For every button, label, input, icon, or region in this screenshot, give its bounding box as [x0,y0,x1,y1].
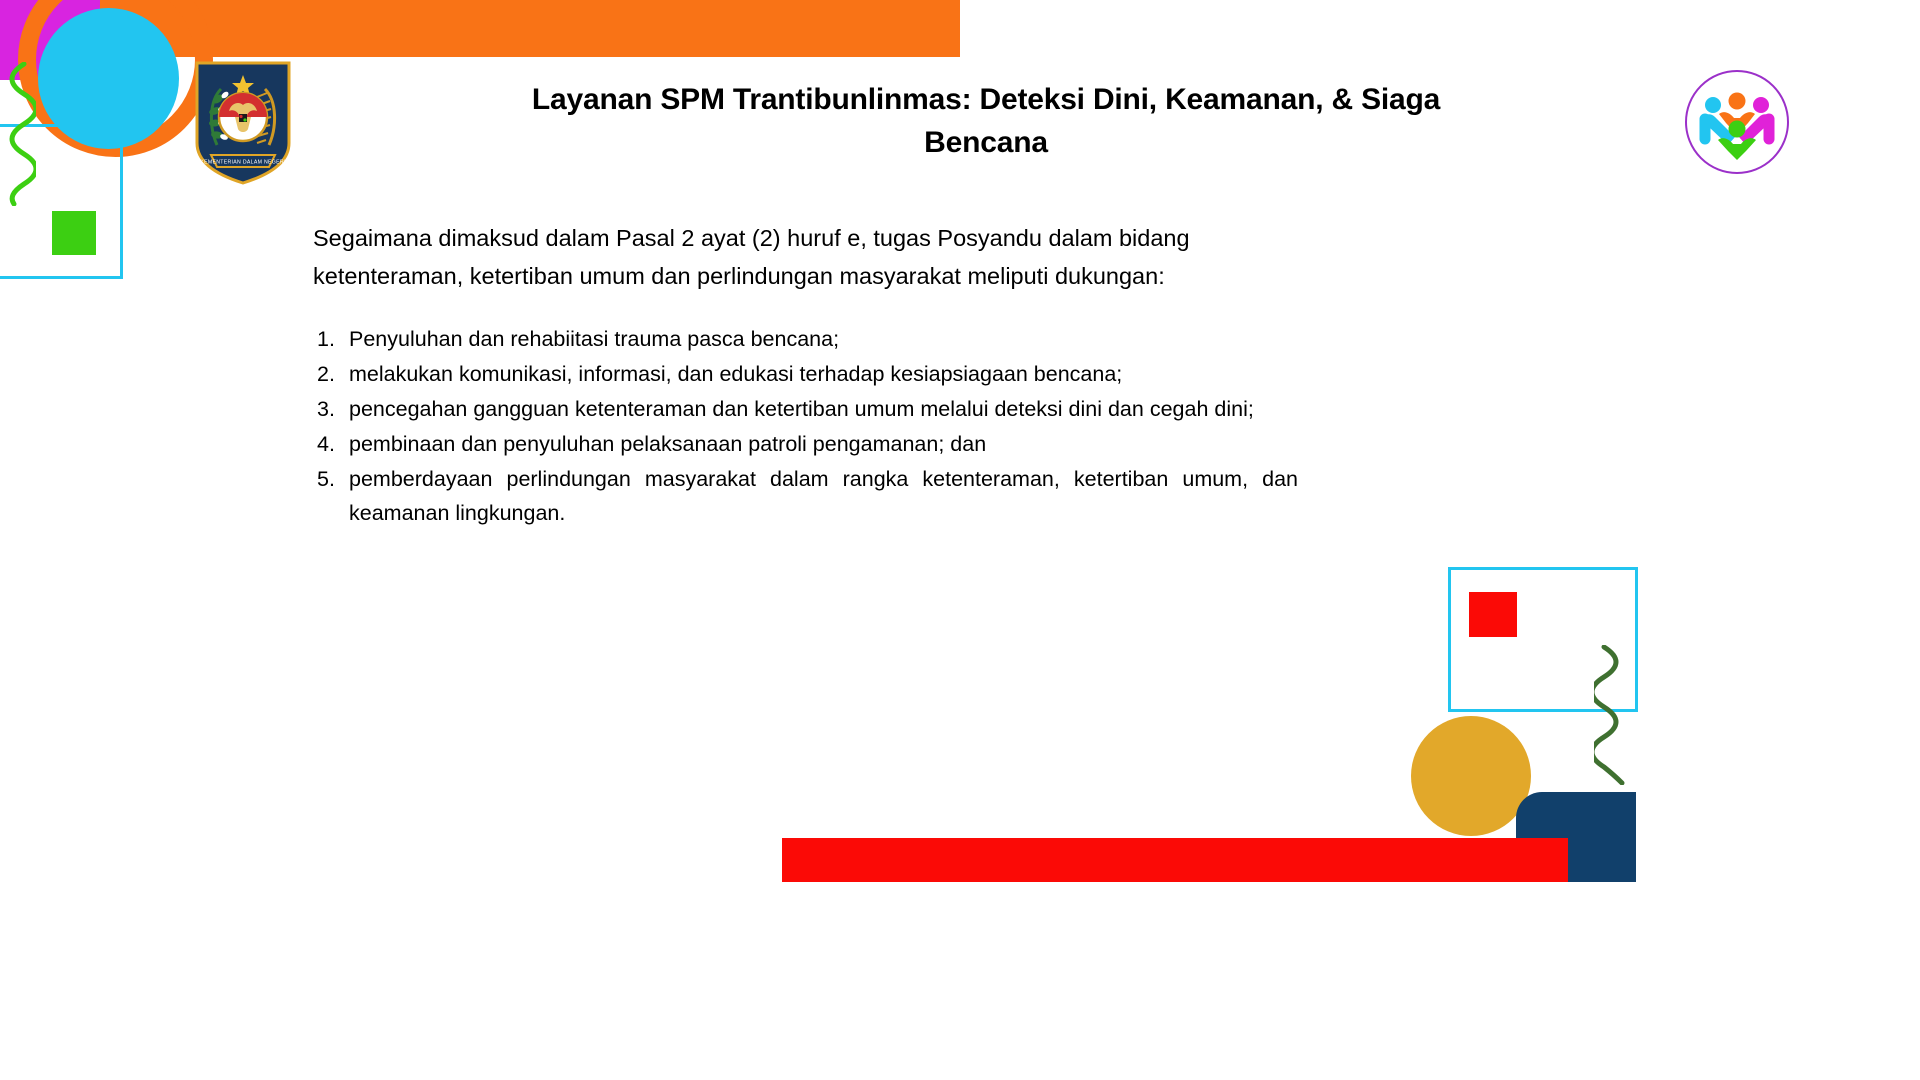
posyandu-logo-container [1672,67,1802,177]
navy-block-decoration [1516,792,1636,882]
slide-header: KEMENTERIAN DALAM NEGERI Layanan SPM Tra… [0,52,1920,192]
page-title: Layanan SPM Trantibunlinmas: Deteksi Din… [486,79,1486,164]
orange-top-bar-decoration [100,0,960,57]
posyandu-logo-icon [1682,67,1792,177]
list-item: Penyuluhan dan rehabiitasi trauma pasca … [313,323,1298,357]
green-square-decoration [52,211,96,255]
task-list: Penyuluhan dan rehabiitasi trauma pasca … [313,323,1298,531]
title-container: Layanan SPM Trantibunlinmas: Deteksi Din… [308,79,1672,164]
list-item: pencegahan gangguan ketenteraman dan ket… [313,393,1298,427]
kemendagri-emblem-icon: KEMENTERIAN DALAM NEGERI [191,59,295,185]
slide-body: Segaimana dimaksud dalam Pasal 2 ayat (2… [313,219,1298,532]
red-square-decoration [1469,592,1517,637]
list-item: pemberdayaan perlindungan masyarakat dal… [313,463,1298,531]
dark-green-squiggle-bottom-right-decoration [1594,645,1626,785]
kemendagri-emblem-container: KEMENTERIAN DALAM NEGERI [178,59,308,185]
red-bottom-bar-decoration [782,838,1568,882]
emblem-ribbon-text: KEMENTERIAN DALAM NEGERI [200,160,285,166]
lead-paragraph: Segaimana dimaksud dalam Pasal 2 ayat (2… [313,219,1298,295]
cyan-square-outline-bottom-right-decoration [1448,567,1638,712]
list-item: melakukan komunikasi, informasi, dan edu… [313,358,1298,392]
gold-circle-decoration [1411,716,1531,836]
list-item: pembinaan dan penyuluhan pelaksanaan pat… [313,428,1298,462]
